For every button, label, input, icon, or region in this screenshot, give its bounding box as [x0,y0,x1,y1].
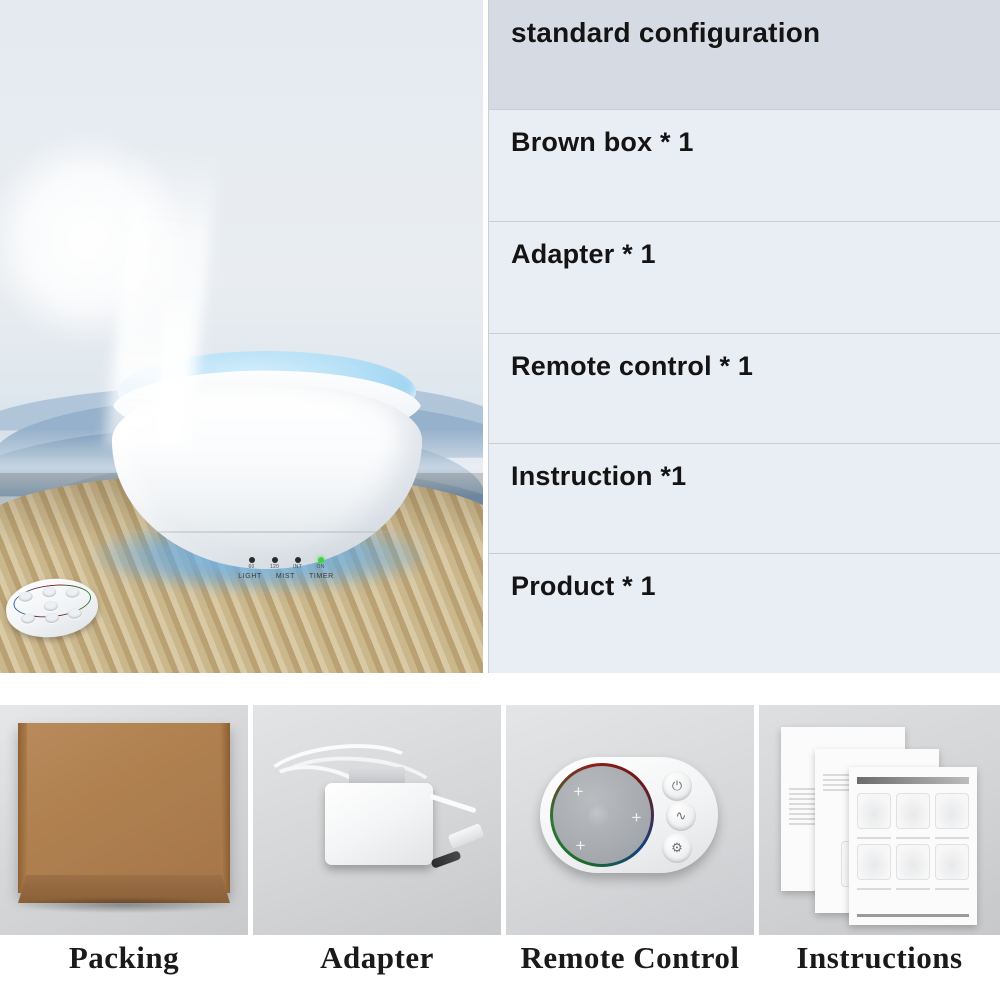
remote-button-6 [45,612,60,623]
sheet-footer-bar [857,914,969,917]
button-label-timer[interactable]: TIMER [309,573,334,580]
plus-icon: + [572,837,589,854]
instruction-sheet-front [849,767,977,925]
caption-adapter: Adapter [253,940,501,976]
step-diagram-6 [935,844,969,880]
table-row: Adapter * 1 [489,222,1000,334]
power-icon: ⏻ [662,771,692,801]
table-header-row: standard configuration [489,0,1000,110]
led-60 [249,557,255,563]
plus-icon: + [628,809,645,826]
led-row [216,557,356,563]
step-caption-3 [935,837,969,839]
timer-icon: ⚙ [662,833,692,863]
gallery-item-packing [0,705,248,935]
standard-configuration-table: standard configuration Brown box * 1 Ada… [488,0,1000,673]
gallery-item-adapter [253,705,501,935]
led-label-120: 120 [269,564,281,570]
table-row: Remote control * 1 [489,334,1000,444]
table-cell-brown-box: Brown box * 1 [511,128,1000,158]
gallery-item-remote-control: + + + ⏻ ∿ ⚙ [506,705,754,935]
step-diagram-4 [857,844,891,880]
button-label-light[interactable]: LIGHT [238,573,262,580]
led-on [318,557,324,563]
box-right-edge [221,723,230,893]
led-label-on: ON [315,564,327,570]
table-cell-adapter: Adapter * 1 [511,240,1000,270]
table-cell-instruction: Instruction *1 [511,462,1000,492]
step-diagram-1 [857,793,891,829]
gallery-captions: Packing Adapter Remote Control Instructi… [0,940,1000,1000]
mist-mode-icon: ∿ [666,801,696,831]
led-120 [272,557,278,563]
product-detail-image: 60 120 INT ON LIGHT MIST TIMER [0,0,1000,1000]
table-row: Brown box * 1 [489,110,1000,222]
remote-button-5 [20,613,35,624]
table-header-label: standard configuration [511,18,1000,49]
table-row: Instruction *1 [489,444,1000,554]
led-label-row: 60 120 INT ON [216,564,356,570]
table-cell-product: Product * 1 [511,572,1000,602]
remote-center-button [588,805,610,827]
step-caption-6 [935,888,969,890]
button-label-mist[interactable]: MIST [276,573,295,580]
box-left-edge [18,723,27,893]
led-label-int: INT [292,564,304,570]
remote-button-7 [67,608,82,619]
step-diagram-5 [896,844,930,880]
gallery-item-instructions [759,705,1000,935]
caption-instructions: Instructions [759,940,1000,976]
caption-packing: Packing [0,940,248,976]
caption-remote-control: Remote Control [506,940,754,976]
step-caption-4 [857,888,891,890]
hero-product-photo: 60 120 INT ON LIGHT MIST TIMER [0,0,483,673]
step-diagram-2 [896,793,930,829]
diffuser-seam [126,531,408,533]
adapter-brick [325,783,433,865]
step-diagram-3 [935,793,969,829]
brown-box [18,723,230,893]
diffuser-control-panel: 60 120 INT ON LIGHT MIST TIMER [216,557,356,580]
step-caption-2 [896,837,930,839]
table-cell-remote-control: Remote control * 1 [511,352,1000,382]
led-int [295,557,301,563]
led-label-60: 60 [246,564,258,570]
sheet-step-grid [857,793,969,890]
step-caption-1 [857,837,891,839]
table-row: Product * 1 [489,554,1000,673]
sheet-title-bar [857,777,969,784]
step-caption-5 [896,888,930,890]
plus-icon: + [570,783,587,800]
button-label-row: LIGHT MIST TIMER [216,573,356,580]
gallery-strip: + + + ⏻ ∿ ⚙ [0,705,1000,935]
box-shadow [16,897,230,913]
